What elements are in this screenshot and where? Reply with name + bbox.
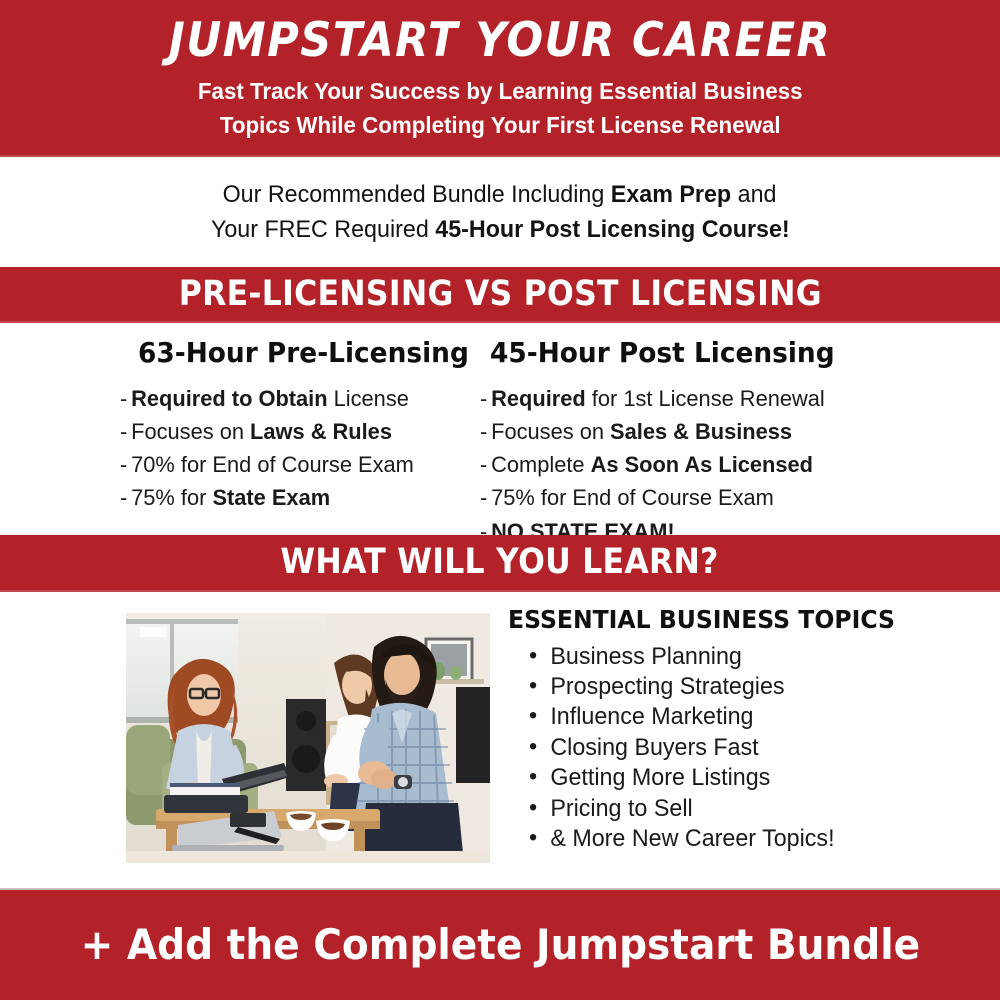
list-item: Getting More Listings <box>529 763 913 793</box>
recommended-line-1-bold: Exam Prep <box>611 181 731 208</box>
list-item: -75% for End of Course Exam <box>480 481 984 514</box>
list-item: & More New Career Topics! <box>529 824 913 854</box>
compare-banner-title: PRE-LICENSING VS POST LICENSING <box>178 277 821 312</box>
recommended-line-2: Your FREC Required 45-Hour Post Licensin… <box>211 212 790 247</box>
hero-subtitle-line-2: Topics While Completing Your First Licen… <box>198 109 803 143</box>
item-text-pre: Complete <box>491 452 590 477</box>
compare-section-banner: PRE-LICENSING VS POST LICENSING <box>0 267 1000 323</box>
list-item: -Required for 1st License Renewal <box>480 382 984 415</box>
recommended-line-1-post: and <box>732 181 777 208</box>
list-item: Prospecting Strategies <box>529 672 913 702</box>
item-text-bold: Required <box>491 386 586 411</box>
item-text-bold: Sales & Business <box>610 419 792 444</box>
essential-topics-block: ESSENTIAL BUSINESS TOPICS Business Plann… <box>505 608 925 855</box>
list-item: -Focuses on Sales & Business <box>480 415 984 448</box>
dash-marker: - <box>120 485 127 510</box>
item-text-bold: Laws & Rules <box>250 419 392 444</box>
list-item: Business Planning <box>529 642 913 672</box>
recommended-line-1: Our Recommended Bundle Including Exam Pr… <box>223 177 777 212</box>
post-licensing-column: 45-Hour Post Licensing -Required for 1st… <box>480 323 1000 535</box>
item-text-post: License <box>328 386 409 411</box>
item-text-bold: Required to Obtain <box>131 386 327 411</box>
add-bundle-cta[interactable]: + Add the Complete Jumpstart Bundle <box>0 888 1000 1000</box>
hero-subtitle: Fast Track Your Success by Learning Esse… <box>198 75 803 142</box>
hero-banner: JUMPSTART YOUR CAREER Fast Track Your Su… <box>0 0 1000 157</box>
post-licensing-heading: 45-Hour Post Licensing <box>490 340 980 368</box>
dash-marker: - <box>480 452 487 477</box>
item-text-bold: State Exam <box>212 485 330 510</box>
dash-marker: - <box>480 485 487 510</box>
list-item: -75% for State Exam <box>120 481 469 514</box>
essential-topics-list: Business Planning Prospecting Strategies… <box>505 642 925 855</box>
meeting-photo-illustration <box>126 613 490 863</box>
dash-marker: - <box>480 386 487 411</box>
list-item: Influence Marketing <box>529 702 913 732</box>
recommended-line-1-pre: Our Recommended Bundle Including <box>223 181 611 208</box>
dash-marker: - <box>120 452 127 477</box>
item-text-pre: 70% for End of Course Exam <box>131 452 414 477</box>
recommended-line-2-pre: Your FREC Required <box>211 216 435 243</box>
promo-page: JUMPSTART YOUR CAREER Fast Track Your Su… <box>0 0 1000 1000</box>
learn-banner-title: WHAT WILL YOU LEARN? <box>281 545 719 580</box>
item-text-pre: Focuses on <box>131 419 250 444</box>
dash-marker: - <box>120 386 127 411</box>
list-item: -70% for End of Course Exam <box>120 448 469 481</box>
recommended-line-2-bold: 45-Hour Post Licensing Course! <box>435 216 789 243</box>
item-text-pre: 75% for <box>131 485 212 510</box>
recommended-bundle-block: Our Recommended Bundle Including Exam Pr… <box>0 157 1000 267</box>
list-item: -Required to Obtain License <box>120 382 469 415</box>
list-item: Closing Buyers Fast <box>529 733 913 763</box>
item-text-pre: 75% for End of Course Exam <box>491 485 774 510</box>
pre-licensing-column: 63-Hour Pre-Licensing -Required to Obtai… <box>0 323 480 535</box>
list-item: Pricing to Sell <box>529 794 913 824</box>
learn-section: ESSENTIAL BUSINESS TOPICS Business Plann… <box>0 592 1000 888</box>
comparison-section: 63-Hour Pre-Licensing -Required to Obtai… <box>0 323 1000 535</box>
list-item: -Complete As Soon As Licensed <box>480 448 984 481</box>
hero-subtitle-line-1: Fast Track Your Success by Learning Esse… <box>198 75 803 109</box>
item-text-pre: Focuses on <box>491 419 610 444</box>
add-bundle-cta-label: + Add the Complete Jumpstart Bundle <box>80 924 919 966</box>
learn-section-banner: WHAT WILL YOU LEARN? <box>0 535 1000 592</box>
page-title: JUMPSTART YOUR CAREER <box>169 17 831 64</box>
list-item: -Focuses on Laws & Rules <box>120 415 469 448</box>
essential-topics-heading: ESSENTIAL BUSINESS TOPICS <box>508 608 908 633</box>
pre-licensing-list: -Required to Obtain License -Focuses on … <box>120 382 480 515</box>
dash-marker: - <box>120 419 127 444</box>
post-licensing-list: -Required for 1st License Renewal -Focus… <box>480 382 1000 548</box>
item-text-post: for 1st License Renewal <box>586 386 825 411</box>
dash-marker: - <box>480 419 487 444</box>
pre-licensing-heading: 63-Hour Pre-Licensing <box>138 340 466 368</box>
meeting-photo <box>126 613 490 863</box>
item-text-bold: As Soon As Licensed <box>591 452 813 477</box>
